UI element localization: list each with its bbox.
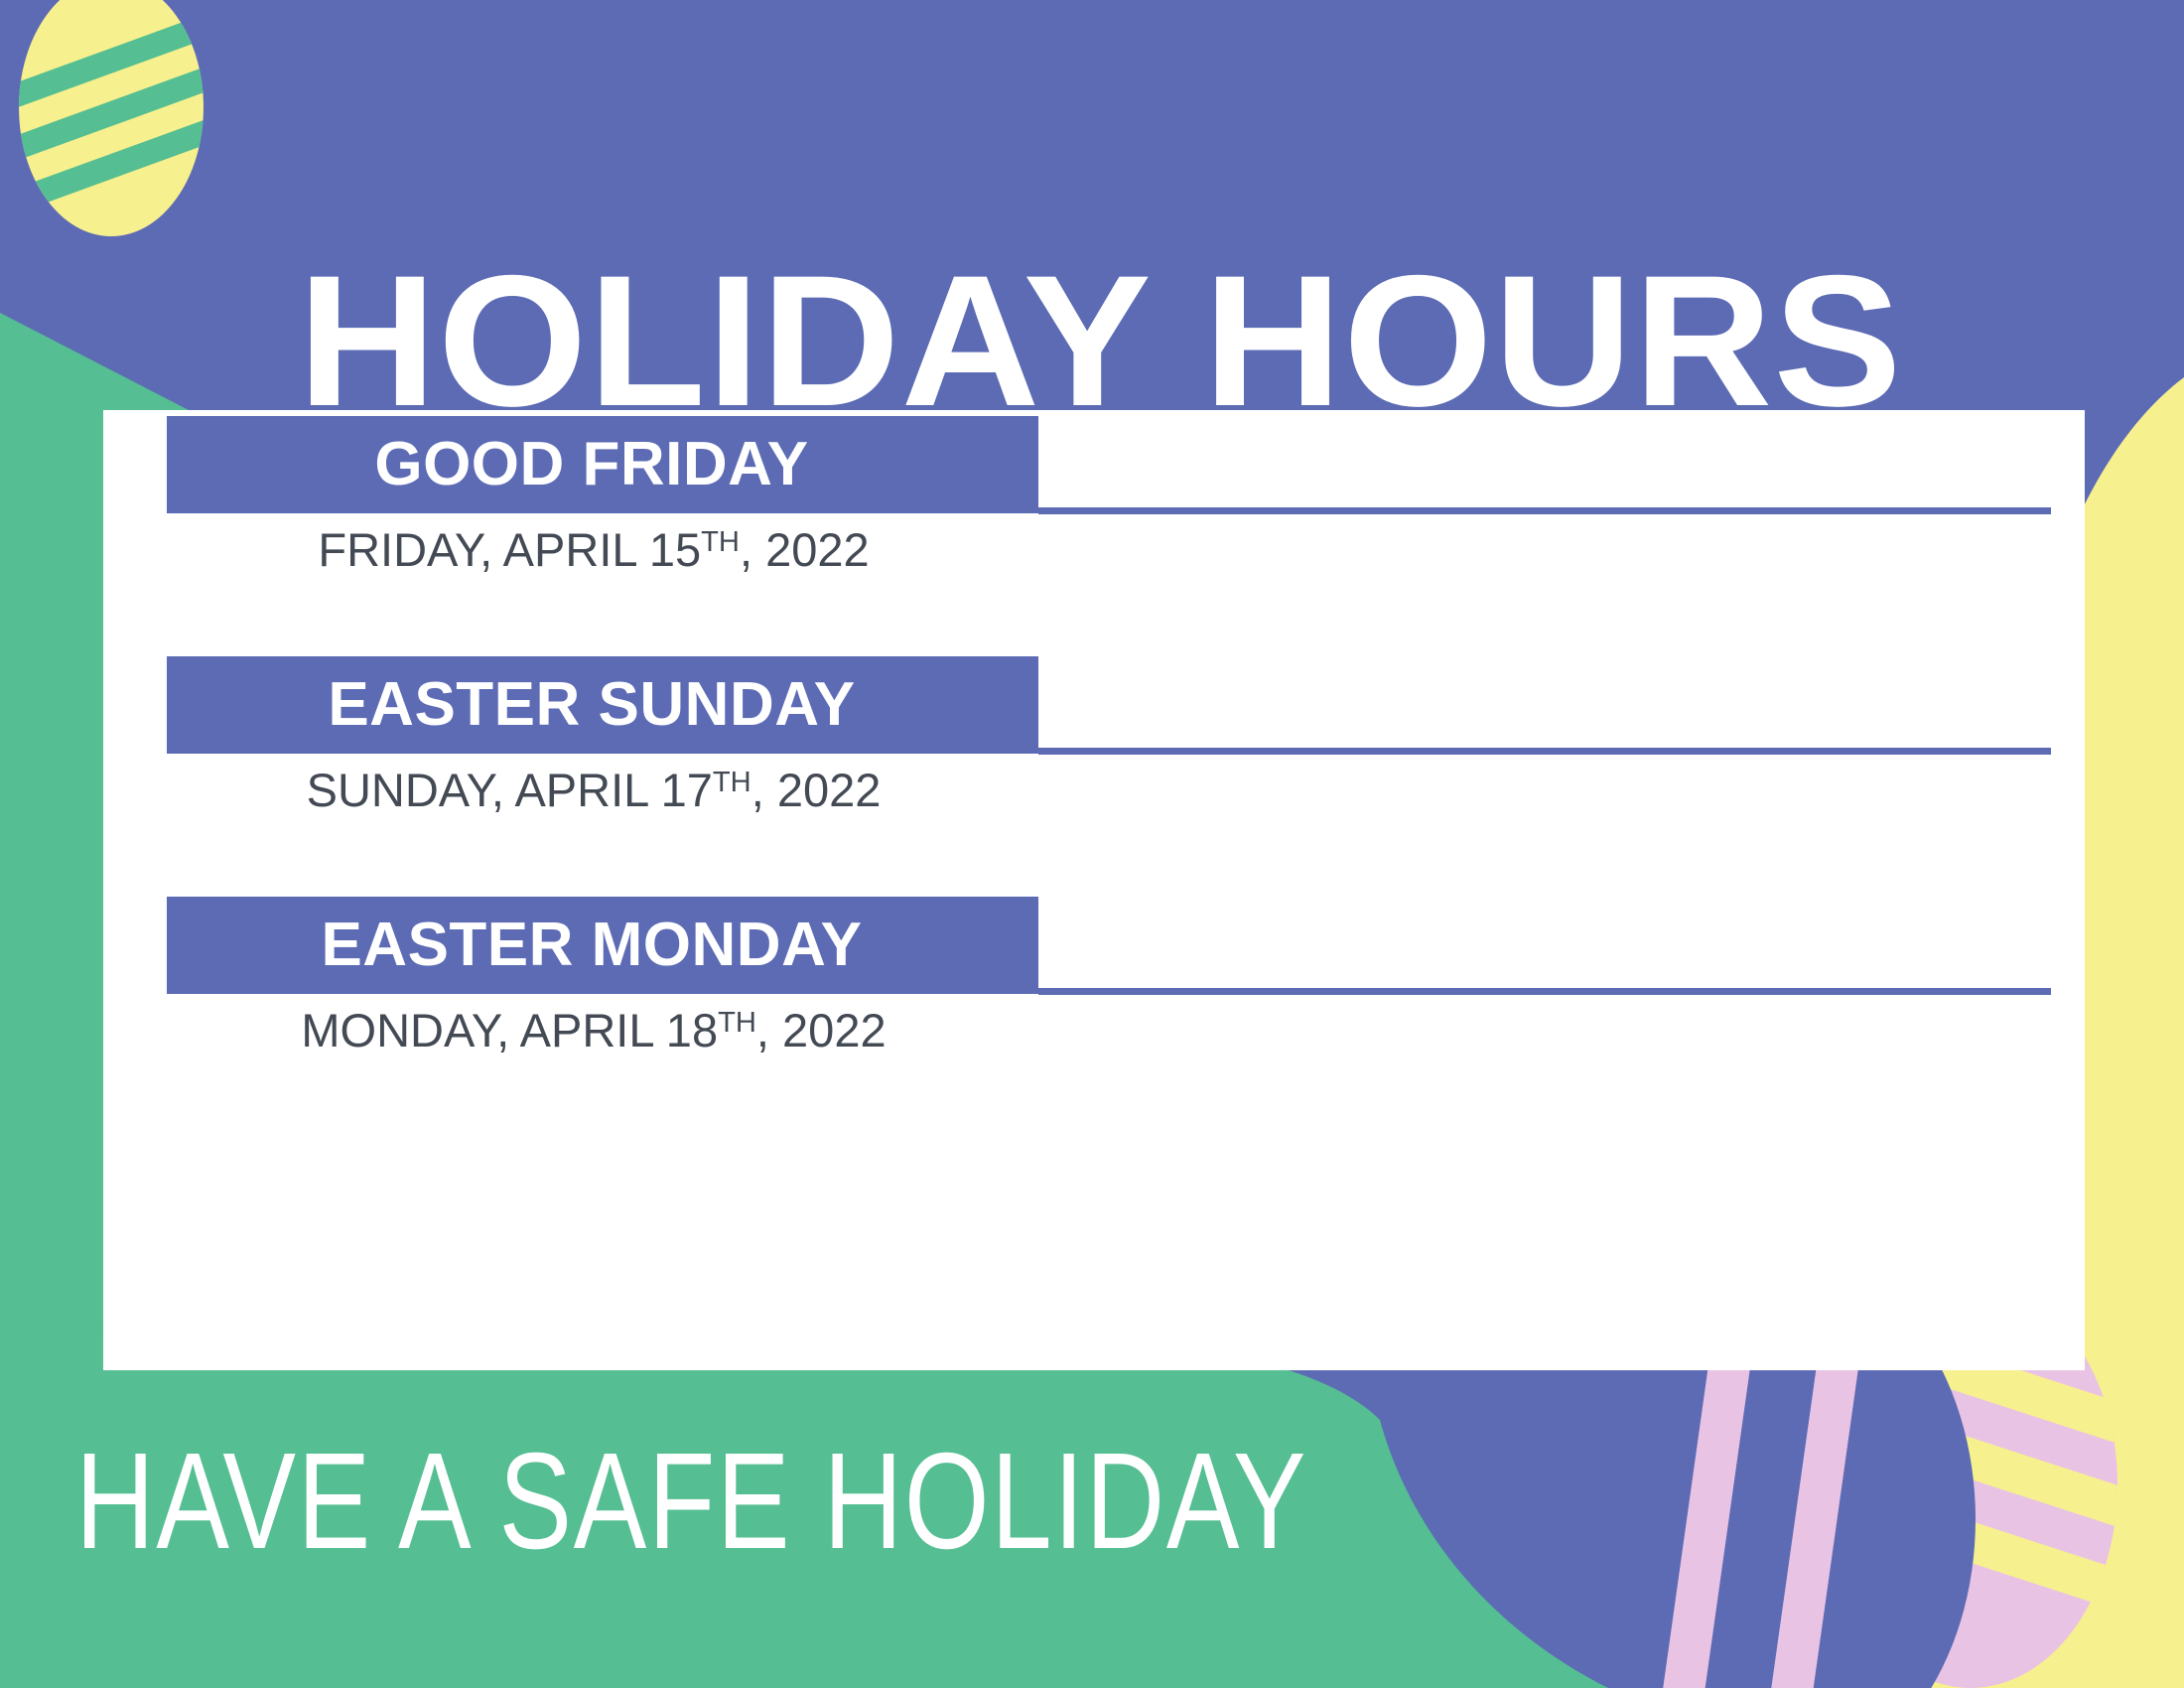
holiday-date: MONDAY, APRIL 18TH, 2022	[167, 1000, 1038, 1061]
holiday-hours-rule	[1038, 988, 2051, 995]
holiday-hours-rule	[1038, 507, 2051, 514]
holiday-date-ordinal: TH	[718, 1007, 756, 1039]
holiday-row: GOOD FRIDAY FRIDAY, APRIL 15TH, 2022	[103, 416, 2085, 575]
holiday-name-banner: EASTER MONDAY	[167, 897, 1038, 994]
holiday-date-ordinal: TH	[701, 526, 740, 558]
holiday-row: EASTER MONDAY MONDAY, APRIL 18TH, 2022	[103, 897, 2085, 1055]
holiday-date-prefix: SUNDAY, APRIL 17	[307, 764, 713, 816]
holiday-hours-poster: HOLIDAY HOURS GOOD FRIDAY FRIDAY, APRIL …	[0, 0, 2184, 1688]
holiday-date: FRIDAY, APRIL 15TH, 2022	[167, 519, 1038, 581]
page-title: HOLIDAY HOURS	[298, 246, 1975, 435]
holiday-date-prefix: FRIDAY, APRIL 15	[318, 523, 701, 576]
holiday-date-suffix: , 2022	[740, 523, 870, 576]
holiday-date-suffix: , 2022	[756, 1004, 887, 1056]
holiday-row: EASTER SUNDAY SUNDAY, APRIL 17TH, 2022	[103, 656, 2085, 815]
holiday-date: SUNDAY, APRIL 17TH, 2022	[167, 760, 1038, 821]
footer-message: HAVE A SAFE HOLIDAY	[75, 1422, 1108, 1581]
holiday-list: GOOD FRIDAY FRIDAY, APRIL 15TH, 2022 EAS…	[103, 410, 2085, 1370]
holiday-name-banner: GOOD FRIDAY	[167, 416, 1038, 513]
holiday-date-prefix: MONDAY, APRIL 18	[301, 1004, 718, 1056]
holiday-date-suffix: , 2022	[751, 764, 882, 816]
holiday-hours-rule	[1038, 748, 2051, 755]
holiday-name-banner: EASTER SUNDAY	[167, 656, 1038, 754]
holiday-date-ordinal: TH	[713, 767, 751, 798]
